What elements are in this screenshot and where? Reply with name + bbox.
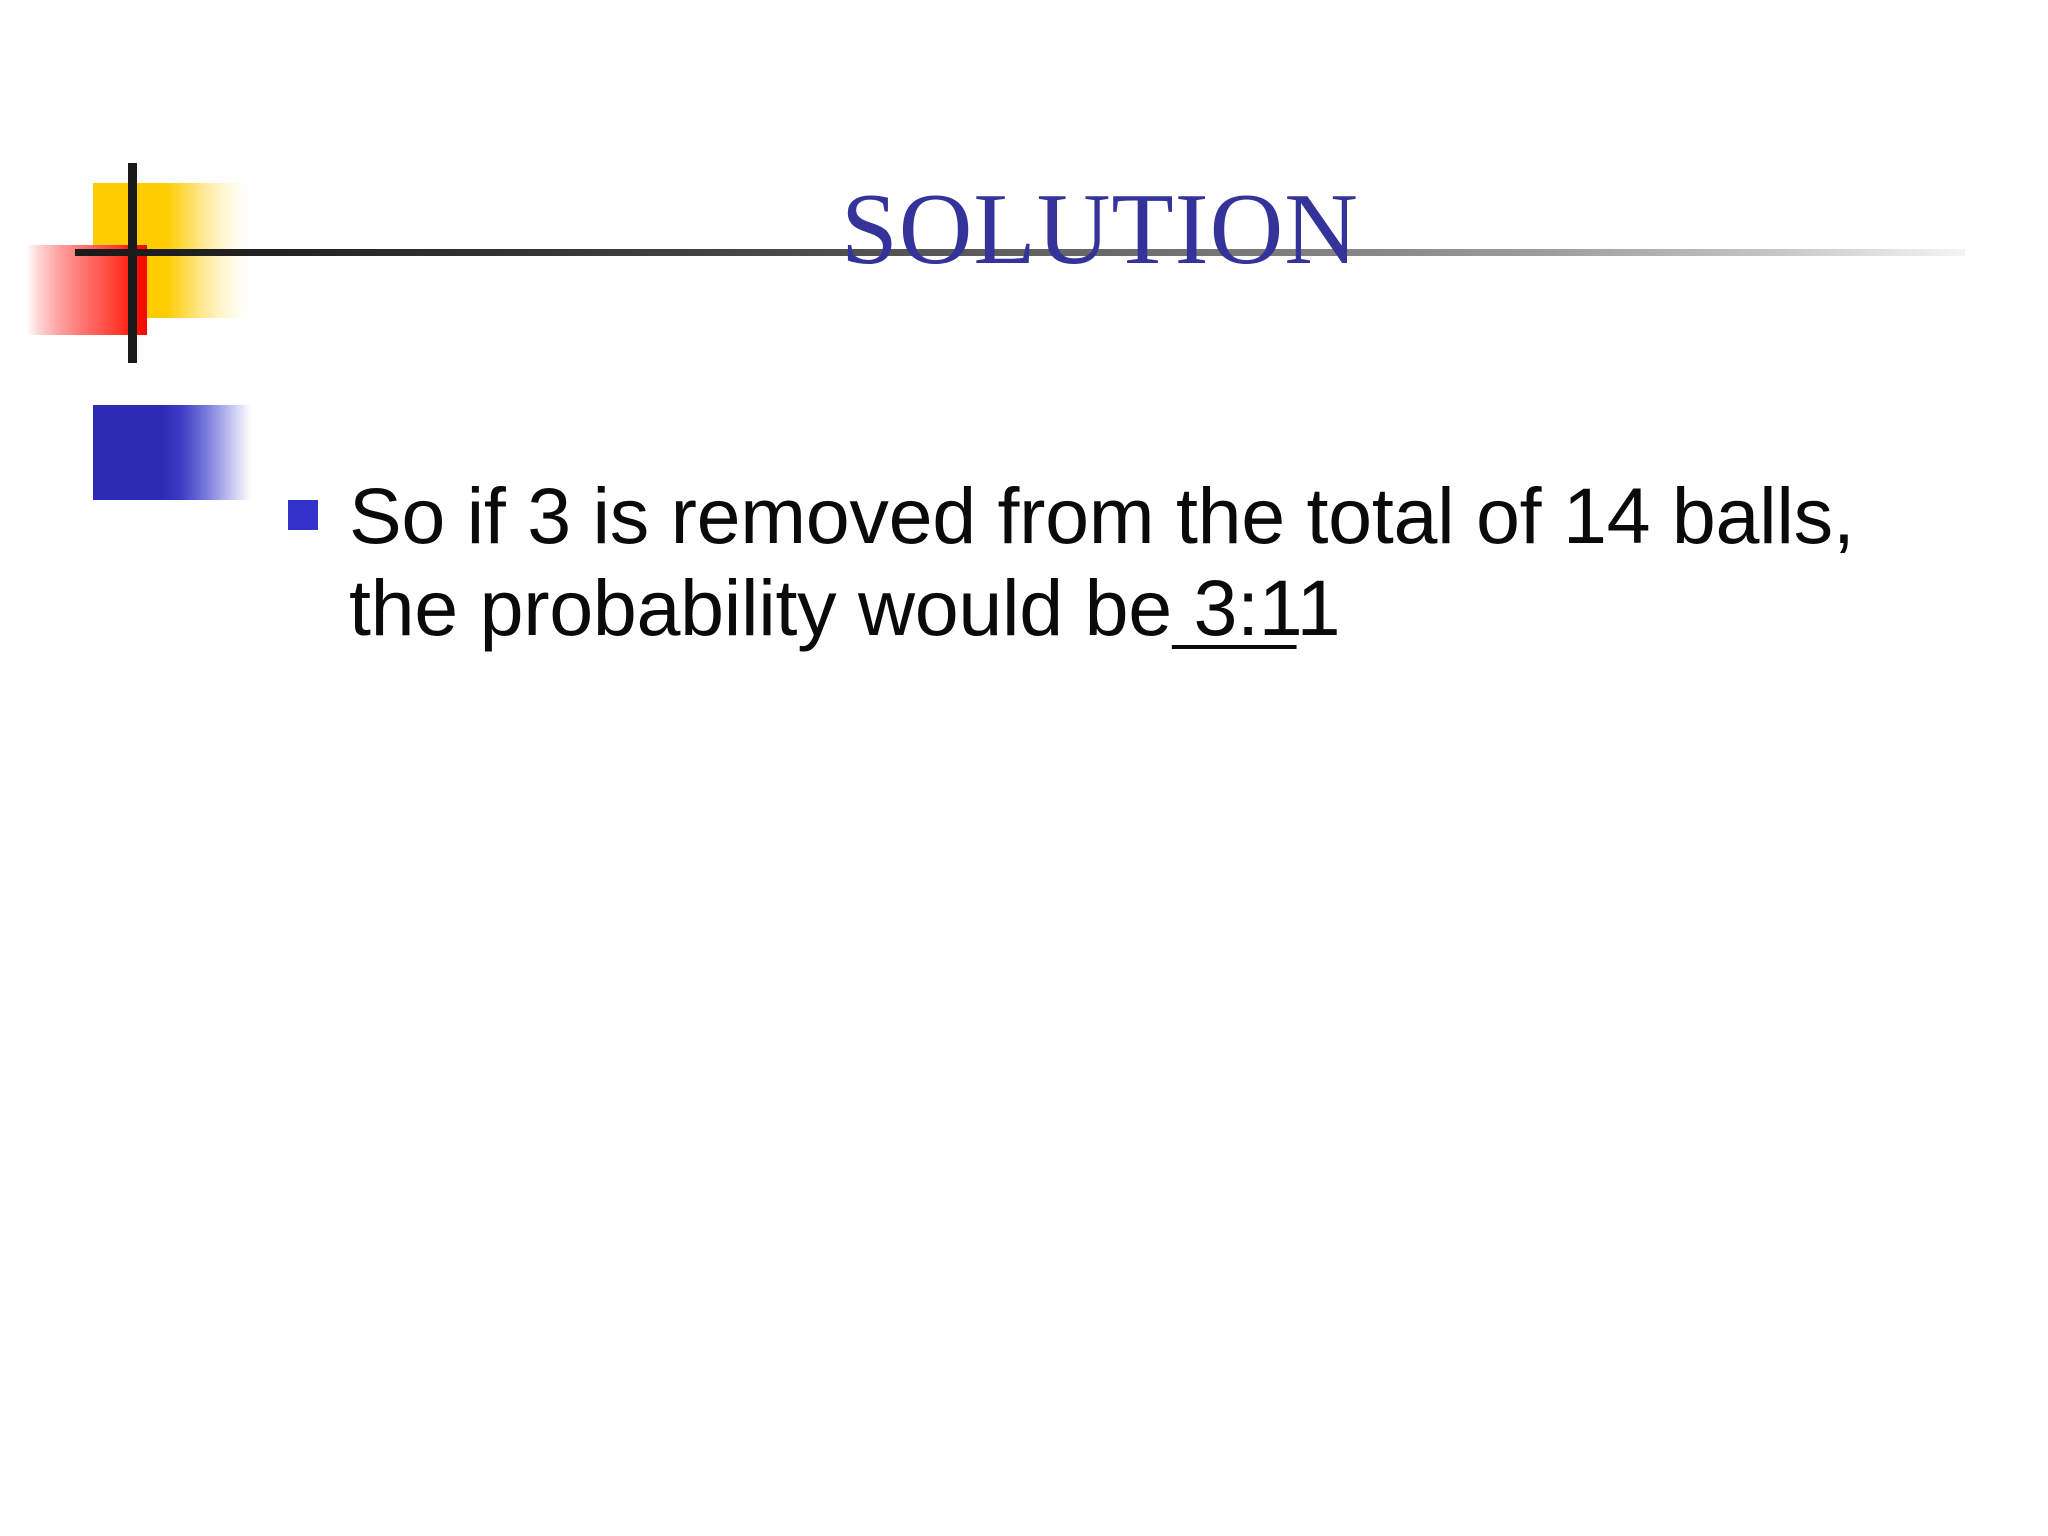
- bullet-text-tail: 1: [1297, 563, 1341, 652]
- bullet-list-item: So if 3 is removed from the total of 14 …: [288, 470, 1978, 653]
- bullet-text-lead: So if 3 is removed from the total of 14 …: [349, 471, 1855, 652]
- bullet-blank-answer: 3:1: [1172, 563, 1297, 652]
- slide-title: SOLUTION: [300, 176, 1900, 283]
- blue-square-decoration: [93, 405, 251, 500]
- presentation-slide: SOLUTION So if 3 is removed from the tot…: [0, 0, 2048, 1536]
- square-bullet-icon: [288, 500, 318, 530]
- slide-body: So if 3 is removed from the total of 14 …: [288, 470, 1978, 653]
- vertical-bar-decoration: [128, 163, 137, 363]
- bullet-text-container: So if 3 is removed from the total of 14 …: [349, 470, 1978, 653]
